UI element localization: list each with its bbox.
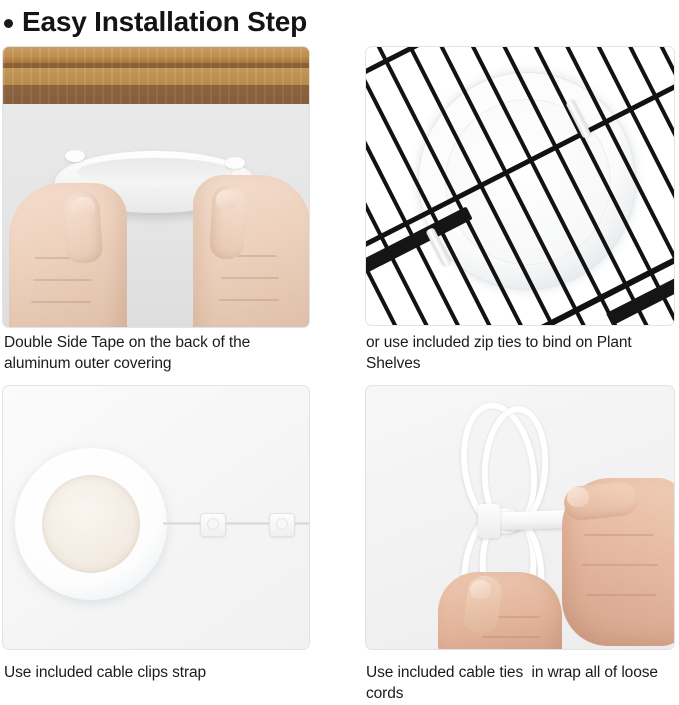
shelf-wire	[492, 46, 675, 326]
right-thumbnail	[567, 487, 589, 507]
ring-light-installed	[15, 448, 167, 600]
step-1-image	[2, 46, 310, 328]
ring-light-tape-pad-left	[65, 150, 85, 162]
shelf-wire	[542, 46, 675, 315]
step-2-caption: or use included zip ties to bind on Plan…	[366, 333, 674, 374]
step-3-image	[2, 385, 310, 650]
ring-light-diffuser	[42, 475, 140, 573]
ring-light-tape-pad-right	[225, 157, 245, 169]
knuckle-line	[582, 564, 658, 566]
knuckle-line	[584, 534, 654, 536]
shelf-wire	[365, 53, 512, 326]
step-1-caption: Double Side Tape on the back of the alum…	[4, 333, 304, 374]
cable-clip-notch	[207, 518, 219, 530]
wooden-shelf	[3, 47, 309, 104]
step-4-image	[365, 385, 675, 650]
step-2-image	[365, 46, 675, 326]
cable-clip-notch	[276, 518, 288, 530]
knuckle-line	[31, 301, 91, 303]
knuckle-line	[33, 279, 91, 281]
knuckle-line	[586, 594, 656, 596]
page-title-text: Easy Installation Step	[22, 8, 307, 36]
right-hand	[193, 175, 310, 328]
cable-clip-2	[269, 513, 293, 535]
left-thumbnail	[71, 197, 95, 217]
step-4-caption: Use included cable ties in wrap all of l…	[366, 663, 676, 704]
right-thumbnail	[216, 190, 239, 209]
cable-clip-1	[200, 513, 224, 535]
page-title: Easy Installation Step	[0, 0, 679, 44]
step-3-caption: Use included cable clips strap	[4, 663, 304, 684]
wood-grain-texture	[3, 47, 309, 104]
bullet-icon	[4, 19, 13, 28]
knuckle-line	[482, 636, 540, 638]
velcro-tie-loop	[478, 504, 500, 538]
knuckle-line	[221, 277, 279, 279]
left-thumbnail	[470, 580, 491, 599]
wire-shelf-grid	[365, 46, 675, 326]
knuckle-line	[219, 299, 279, 301]
